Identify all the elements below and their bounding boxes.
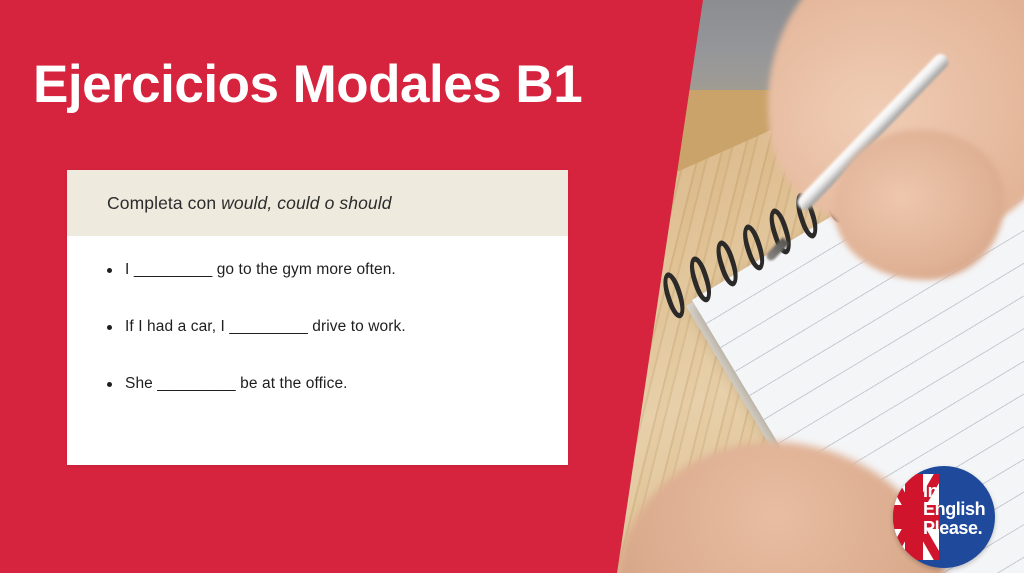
list-item: If I had a car, I _________ drive to wor… [95, 317, 540, 337]
logo-line-3: Please. [923, 519, 985, 537]
card-body: I _________ go to the gym more often. If… [67, 236, 568, 404]
page-title: Ejercicios Modales B1 [33, 56, 582, 114]
exercise-list: I _________ go to the gym more often. If… [95, 260, 540, 394]
list-item: She _________ be at the office. [95, 374, 540, 394]
thumb-icon [834, 130, 1004, 280]
list-item: I _________ go to the gym more often. [95, 260, 540, 280]
card-header-label: Completa con would, could o should [107, 193, 392, 214]
slide-root: Ejercicios Modales B1 Completa con would… [0, 0, 1024, 573]
logo-wordmark: In English Please. [923, 482, 985, 537]
exercise-card: Completa con would, could o should I ___… [67, 170, 568, 465]
brand-logo-badge[interactable]: In English Please. [893, 466, 995, 568]
logo-line-2: English [923, 500, 985, 518]
instruction-modals: would, could o should [221, 193, 391, 213]
card-header-band: Completa con would, could o should [67, 170, 568, 236]
instruction-prefix: Completa con [107, 193, 221, 213]
logo-line-1: In [923, 482, 985, 500]
